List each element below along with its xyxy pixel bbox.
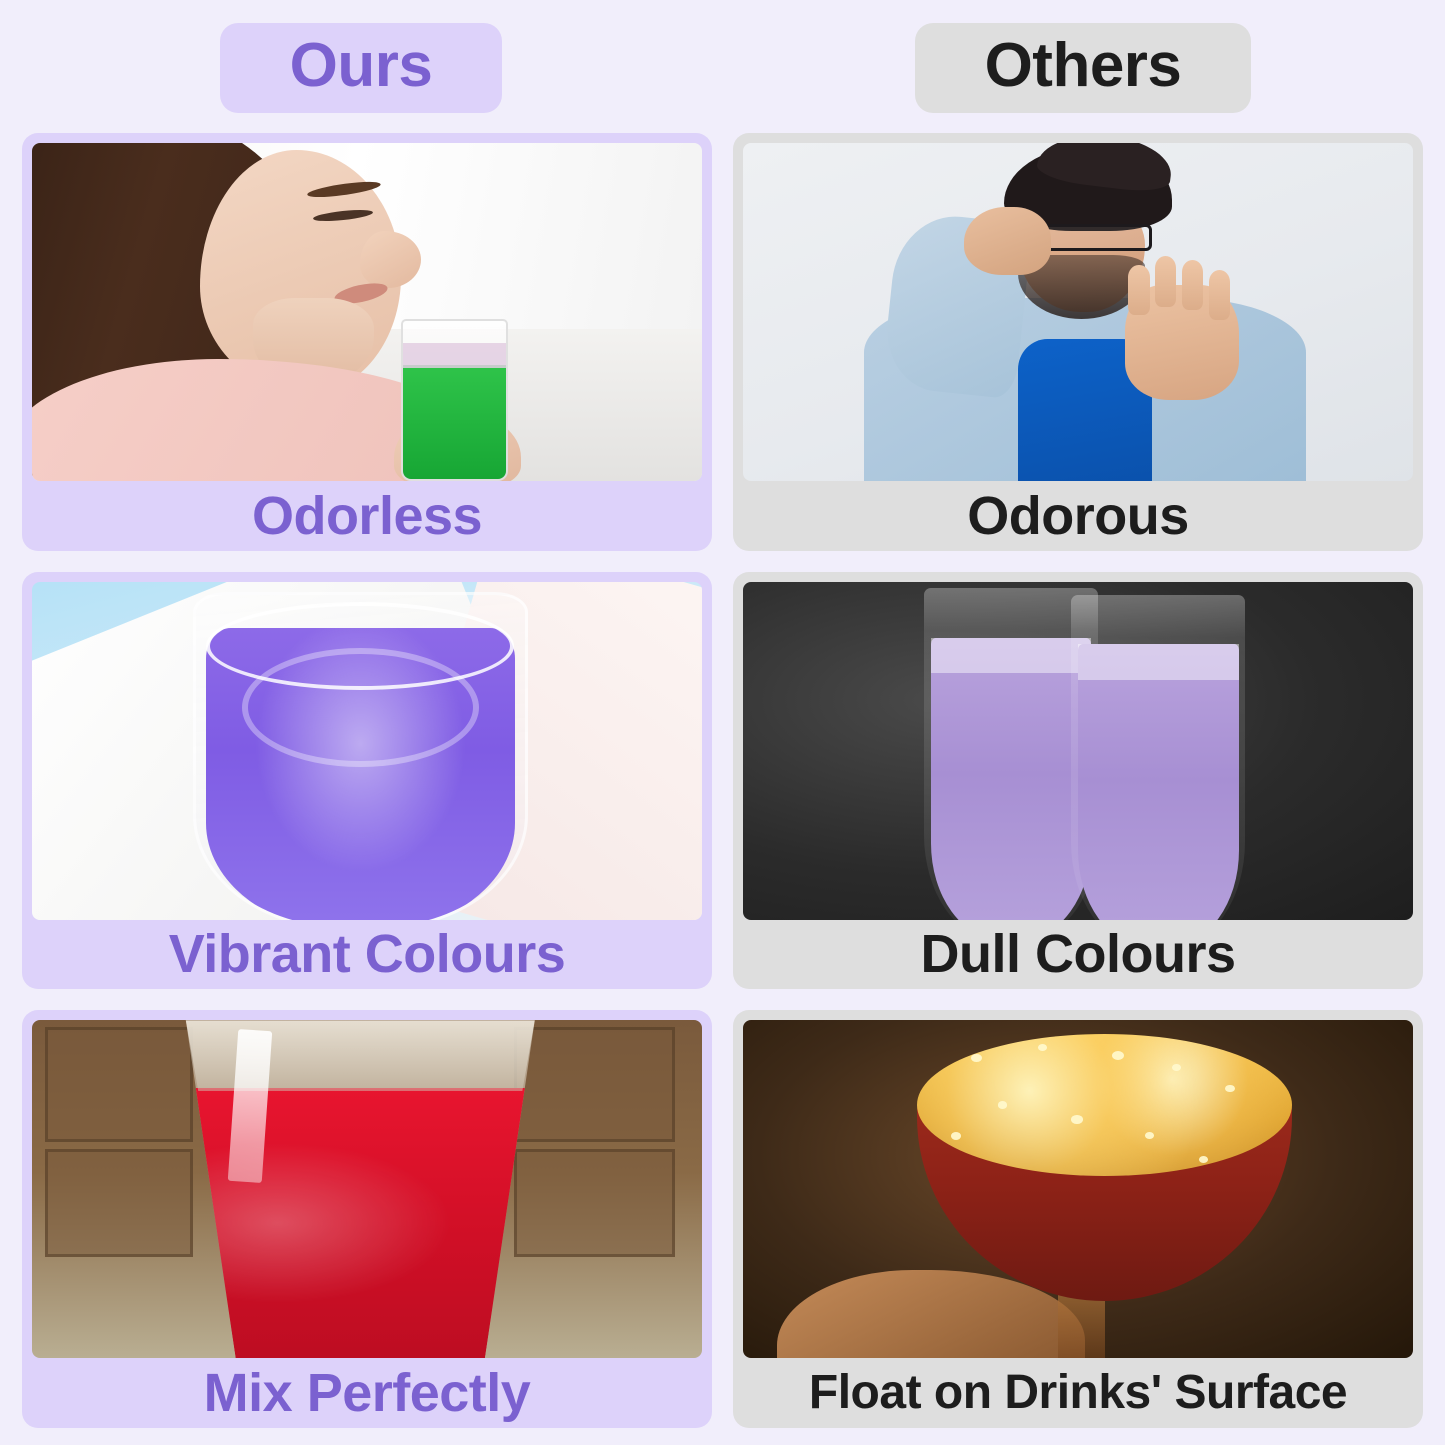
card-others-float-on-surface: Float on Drinks' Surface	[733, 1010, 1423, 1428]
comparison-grid: Odorless Odorous	[22, 133, 1423, 1428]
caption-odorless: Odorless	[32, 481, 702, 551]
card-ours-mix-perfectly: Mix Perfectly	[22, 1010, 712, 1428]
card-others-dull-colours: Dull Colours	[733, 572, 1423, 990]
comparison-infographic: Ours Others	[0, 0, 1445, 1445]
card-ours-vibrant-colours: Vibrant Colours	[22, 572, 712, 990]
image-gold-glitter-floating-cocktail	[743, 1020, 1413, 1358]
header-row: Ours Others	[0, 18, 1445, 118]
caption-odorous: Odorous	[743, 481, 1413, 551]
caption-mix-perfectly: Mix Perfectly	[32, 1358, 702, 1428]
caption-vibrant-colours: Vibrant Colours	[32, 920, 702, 990]
header-pill-others: Others	[915, 23, 1252, 114]
card-ours-odorless: Odorless	[22, 133, 712, 551]
caption-float-on-drinks-surface: Float on Drinks' Surface	[743, 1358, 1413, 1428]
image-vibrant-purple-drink	[32, 582, 702, 920]
header-pill-ours: Ours	[220, 23, 503, 114]
image-woman-smelling-green-drink	[32, 143, 702, 481]
image-man-pinching-nose	[743, 143, 1413, 481]
image-red-mixed-drink	[32, 1020, 702, 1358]
card-others-odorous: Odorous	[733, 133, 1423, 551]
header-cell-others: Others	[722, 18, 1444, 118]
image-dull-purple-flutes	[743, 582, 1413, 920]
caption-dull-colours: Dull Colours	[743, 920, 1413, 990]
header-cell-ours: Ours	[0, 18, 722, 118]
